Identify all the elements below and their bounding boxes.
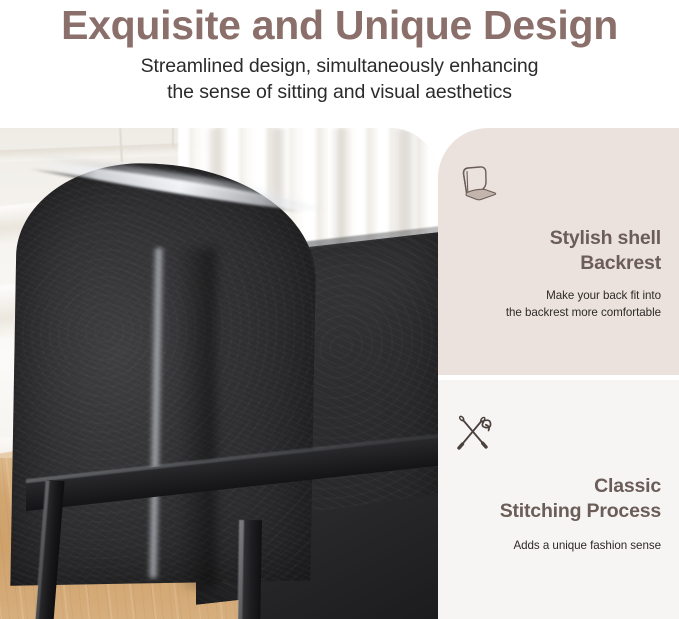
feature-heading-line-2: Backrest: [454, 251, 661, 276]
product-photo: [0, 128, 438, 619]
feature-description-line-1: Make your back fit into: [454, 287, 661, 304]
content-area: Stylish shell Backrest Make your back fi…: [0, 128, 679, 619]
page-subtitle-line-2: the sense of sitting and visual aestheti…: [0, 79, 679, 105]
feature-description-line-1: Adds a unique fashion sense: [454, 537, 661, 554]
page-subtitle-line-1: Streamlined design, simultaneously enhan…: [0, 53, 679, 79]
wall-panel-seam: [172, 128, 174, 148]
page-subtitle: Streamlined design, simultaneously enhan…: [0, 49, 679, 105]
chair-shell-icon: [454, 128, 655, 204]
feature-heading: Stylish shell Backrest: [454, 204, 661, 275]
feature-description: Adds a unique fashion sense: [454, 523, 661, 554]
needle-thread-icon: [454, 380, 655, 454]
header: Exquisite and Unique Design Streamlined …: [0, 0, 679, 128]
feature-card-classic-stitching-process: Classic Stitching Process Adds a unique …: [438, 380, 679, 619]
feature-heading-line-1: Stylish shell: [454, 226, 661, 251]
page-title: Exquisite and Unique Design: [0, 0, 679, 49]
feature-card-stylish-shell-backrest: Stylish shell Backrest Make your back fi…: [438, 128, 679, 375]
chair-curve-shadow: [176, 248, 216, 588]
feature-heading: Classic Stitching Process: [454, 454, 661, 523]
feature-heading-line-1: Classic: [454, 474, 661, 499]
feature-panels: Stylish shell Backrest Make your back fi…: [438, 128, 679, 619]
feature-heading-line-2: Stitching Process: [454, 499, 661, 524]
product-feature-banner: Exquisite and Unique Design Streamlined …: [0, 0, 679, 619]
feature-description-line-2: the backrest more comfortable: [454, 304, 661, 321]
feature-description: Make your back fit into the backrest mor…: [454, 275, 661, 321]
